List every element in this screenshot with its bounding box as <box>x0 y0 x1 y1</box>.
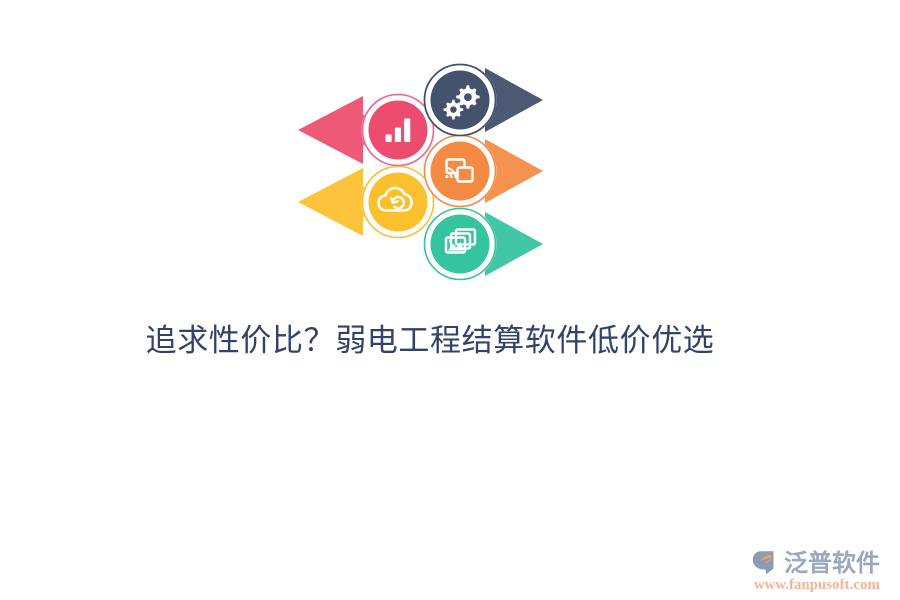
fanpu-logo-mark-icon <box>752 549 782 577</box>
icon-badge-gallery <box>424 208 497 281</box>
page-title: 追求性价比？弱电工程结算软件低价优选 <box>0 318 860 364</box>
brand-watermark[interactable]: 泛普软件 www.fanpusoft.com <box>752 548 892 594</box>
brand-name: 泛普软件 <box>784 549 880 577</box>
brand-url: www.fanpusoft.com <box>754 577 892 594</box>
icon-badge-cloud <box>362 166 435 239</box>
page-canvas: 追求性价比？弱电工程结算软件低价优选 泛普软件 www.fanpusoft.co… <box>0 0 900 600</box>
icon-badge-cast <box>424 135 497 208</box>
icon-badge-chart <box>362 94 435 167</box>
five-arrow-icon-infographic <box>285 35 560 295</box>
icon-badge-gears <box>424 64 497 137</box>
